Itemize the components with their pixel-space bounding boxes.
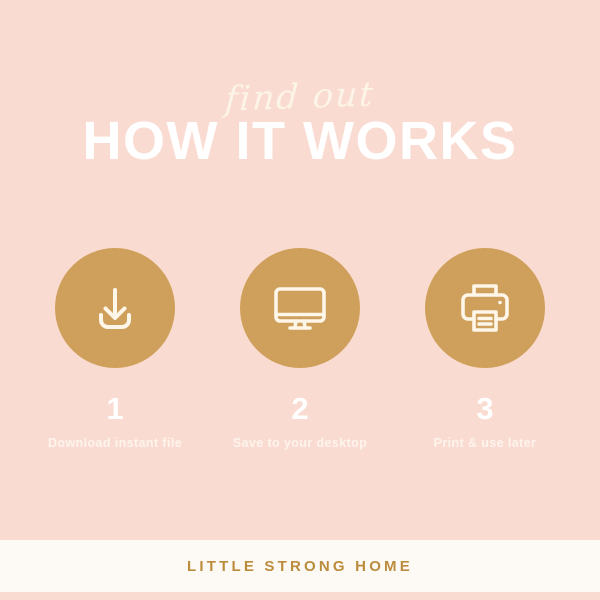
how-it-works-poster: find out HOW IT WORKS 1 Download instant…: [0, 0, 600, 600]
download-icon: [87, 280, 143, 336]
step-icon-badge-3: [425, 248, 545, 368]
step-item-2: 2 Save to your desktop: [240, 248, 360, 451]
desktop-monitor-icon: [270, 280, 330, 336]
step-number-2: 2: [291, 392, 308, 425]
step-item-1: 1 Download instant file: [55, 248, 175, 451]
step-icon-badge-2: [240, 248, 360, 368]
printer-icon: [456, 279, 514, 337]
step-icon-badge-1: [55, 248, 175, 368]
step-caption-3: Print & use later: [434, 436, 537, 451]
steps-row: 1 Download instant file 2 Save to your d…: [0, 248, 600, 451]
step-caption-2: Save to your desktop: [233, 436, 367, 451]
step-number-3: 3: [476, 392, 493, 425]
step-item-3: 3 Print & use later: [425, 248, 545, 451]
brand-name: LITTLE STRONG HOME: [187, 558, 413, 575]
step-caption-1: Download instant file: [48, 436, 182, 451]
script-subtitle: find out: [224, 75, 377, 118]
footer-band: LITTLE STRONG HOME: [0, 540, 600, 592]
step-number-1: 1: [106, 392, 123, 425]
poster-header: find out HOW IT WORKS: [0, 78, 600, 170]
page-title: HOW IT WORKS: [0, 112, 600, 170]
